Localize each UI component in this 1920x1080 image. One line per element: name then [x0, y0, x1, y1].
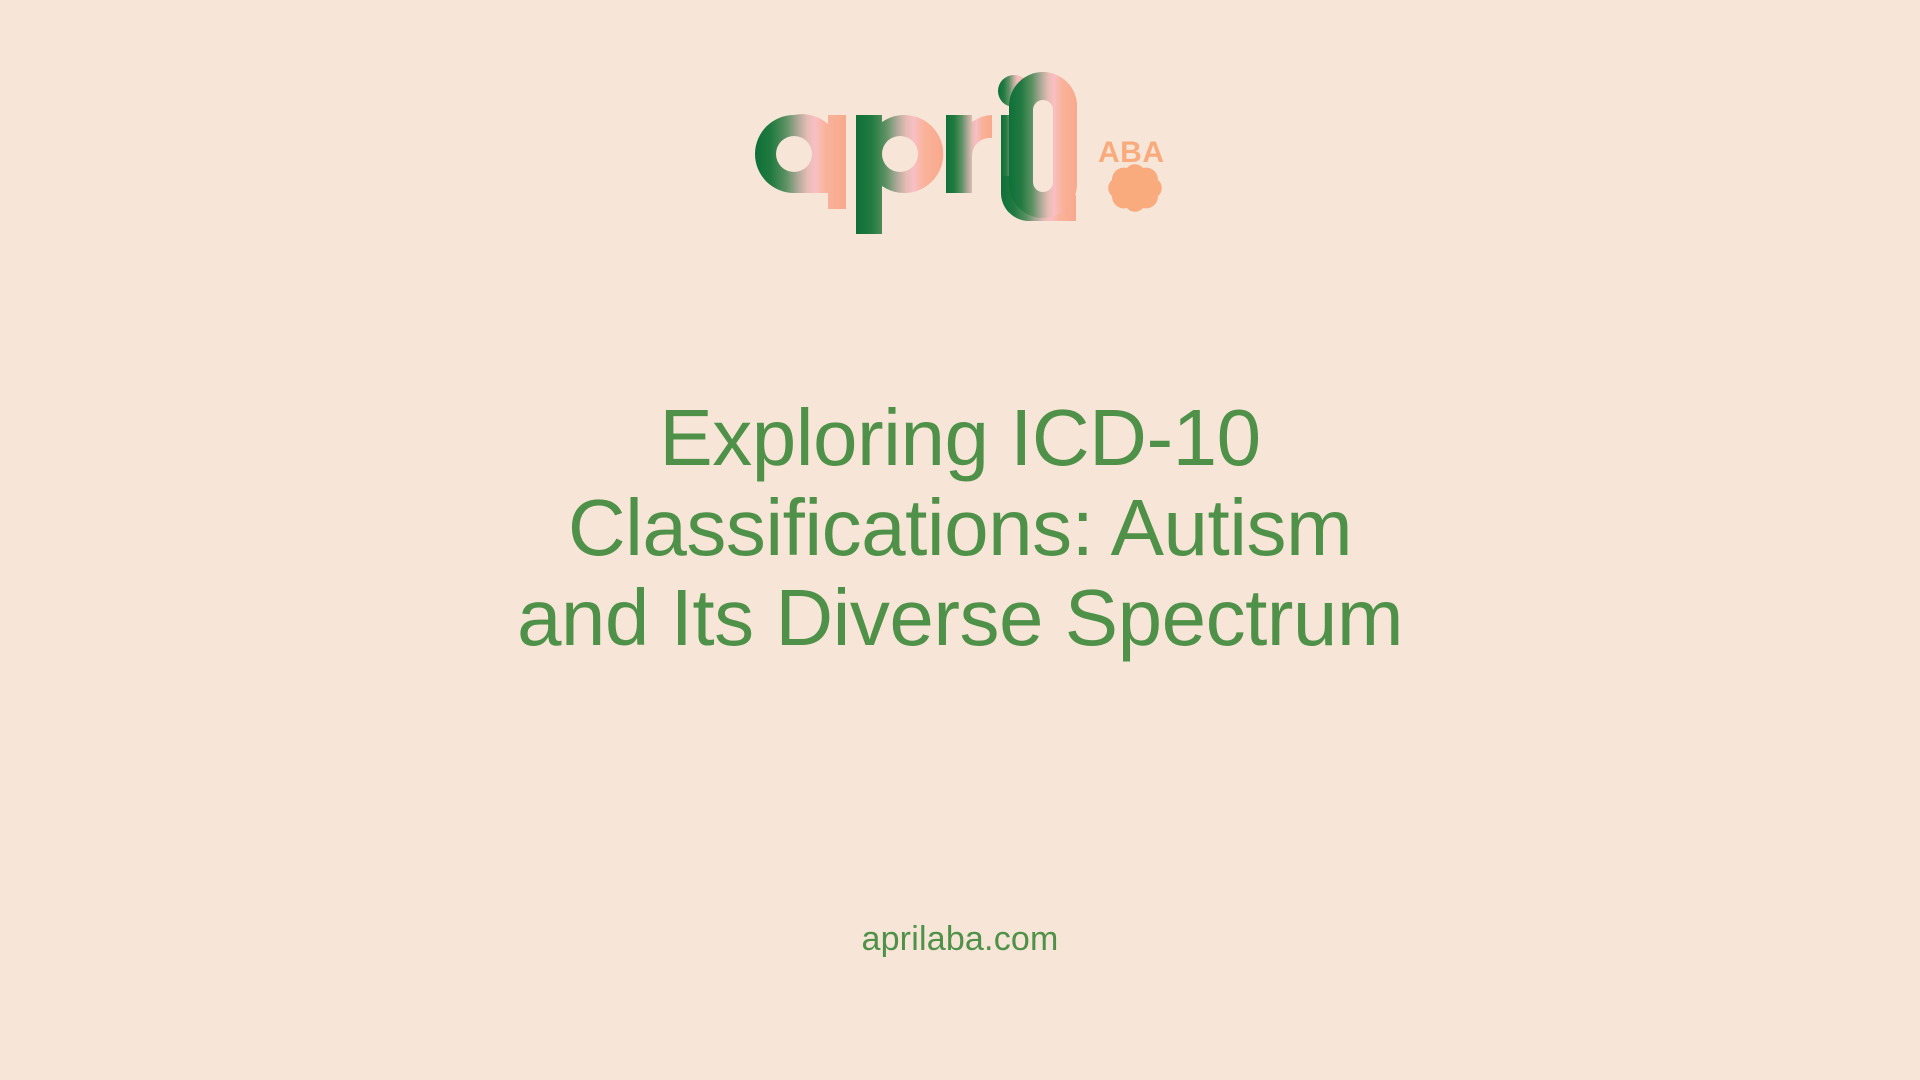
footer: aprilaba.com — [0, 920, 1920, 959]
logo-letter-a — [755, 114, 846, 209]
logo-letter-l-loop — [1001, 72, 1077, 221]
headline-line-3: and Its Diverse Spectrum — [180, 578, 1740, 658]
april-aba-logo[interactable]: ABA — [750, 64, 1170, 249]
page-title: Exploring ICD-10 Classifications: Autism… — [0, 398, 1920, 658]
logo-letter-p — [856, 115, 943, 234]
logo-letter-r — [946, 115, 992, 193]
april-wordmark-svg: ABA — [750, 64, 1170, 249]
title-slide: ABA Exploring ICD-10 Classifications: Au… — [0, 0, 1920, 1080]
headline-line-2: Classifications: Autism — [180, 488, 1740, 568]
clover-flower-icon — [1108, 164, 1162, 212]
headline-line-1: Exploring ICD-10 — [180, 398, 1740, 478]
logo-aba-label: ABA — [1098, 136, 1165, 169]
site-url-link[interactable]: aprilaba.com — [861, 920, 1058, 958]
